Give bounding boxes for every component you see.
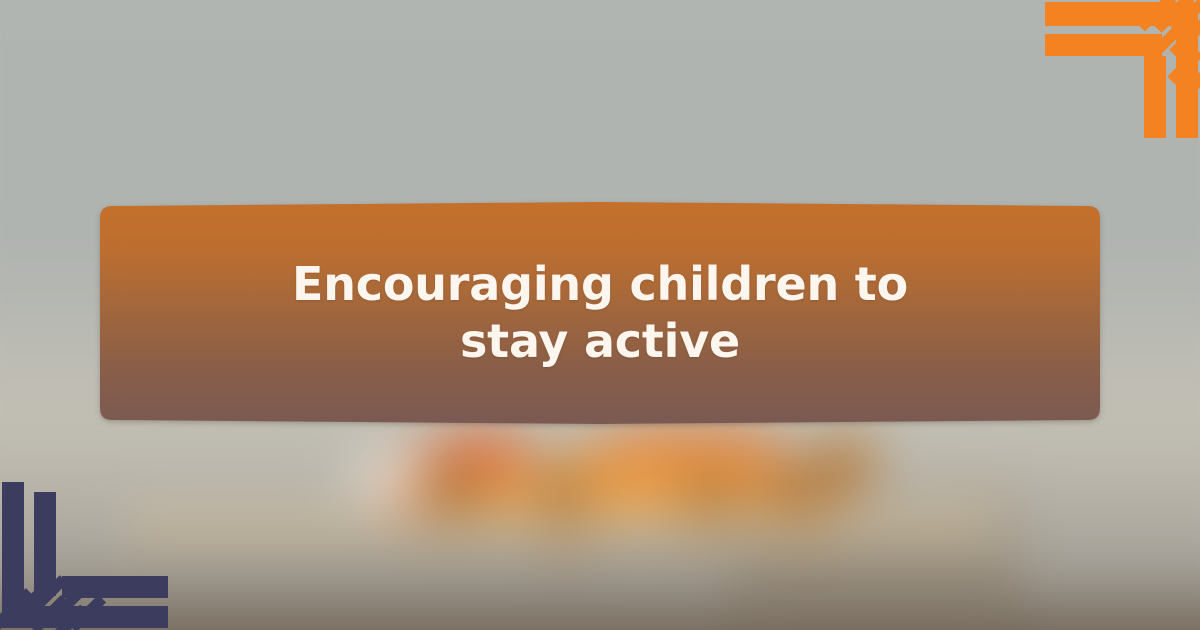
social-card-canvas: Encouraging children to stay active: [0, 0, 1200, 630]
top-right-corner-ornament: [1040, 0, 1200, 140]
bottom-left-corner-ornament: [0, 480, 170, 630]
banner-title-line-2: stay active: [460, 314, 740, 368]
banner-title-line-1: Encouraging children to: [292, 257, 908, 311]
banner-title: Encouraging children to stay active: [100, 202, 1100, 424]
title-banner: Encouraging children to stay active: [100, 202, 1100, 424]
background-counter: [0, 585, 1200, 630]
background-shelf: [125, 510, 996, 551]
